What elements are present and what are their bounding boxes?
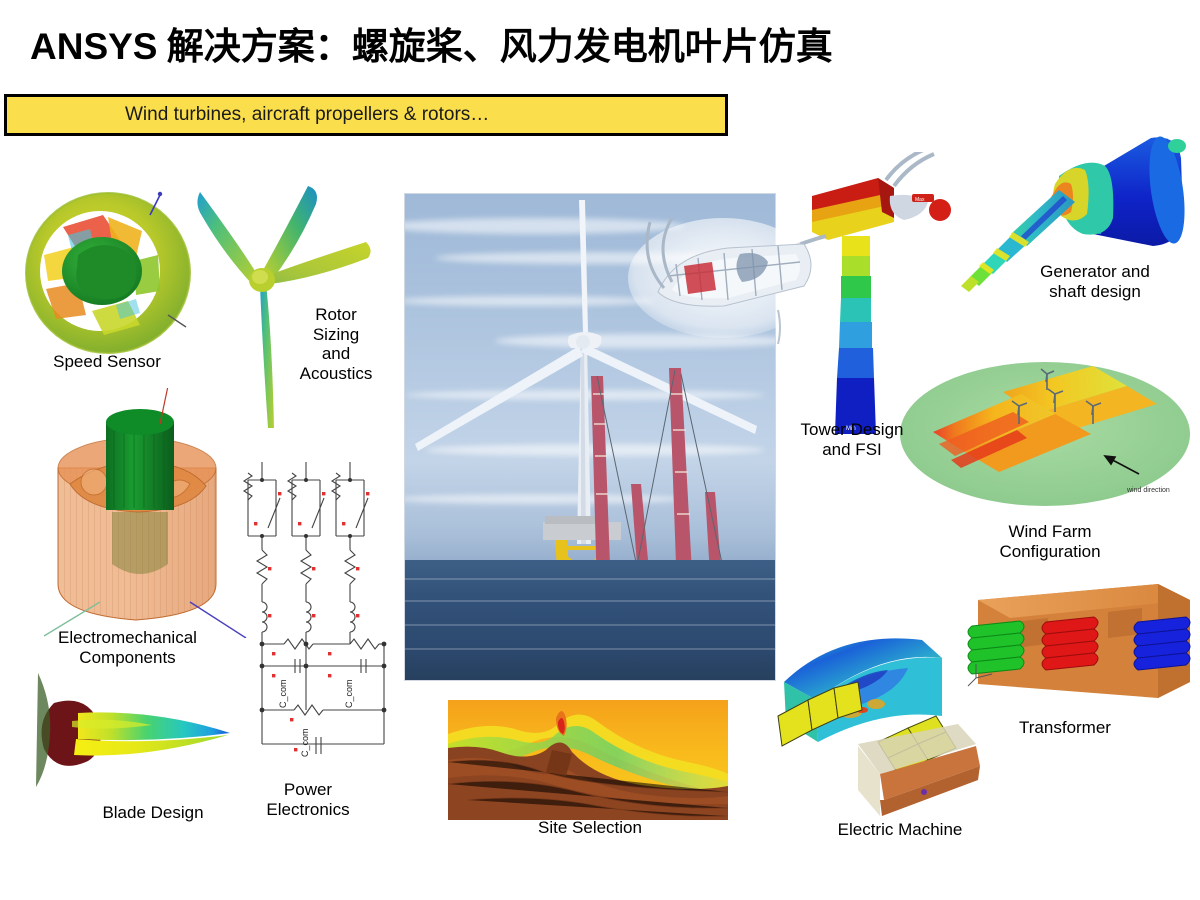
wind-direction-label: wind direction xyxy=(1126,487,1170,494)
circuit-schematic: C_com C_com C_com xyxy=(232,462,392,757)
cap-label-2: C_com xyxy=(344,679,354,708)
figure-speed-sensor xyxy=(8,185,208,365)
figure-site-selection xyxy=(448,700,728,820)
wind-farm-graphic: wind direction xyxy=(895,352,1195,524)
caption-transformer: Transformer xyxy=(1000,718,1130,738)
caption-electric-machine: Electric Machine xyxy=(800,820,1000,840)
electromechanical-graphic xyxy=(40,388,250,638)
nacelle-graphic xyxy=(628,218,818,348)
sea-wave xyxy=(405,648,775,650)
subtitle-banner-text: Wind turbines, aircraft propellers & rot… xyxy=(125,104,489,126)
slide-canvas: ANSYS 解决方案：螺旋桨、风力发电机叶片仿真 Wind turbines, … xyxy=(0,0,1200,900)
caption-site-selection: Site Selection xyxy=(500,818,680,838)
caption-electromechanical: Electromechanical Components xyxy=(20,628,235,667)
caption-blade-design: Blade Design xyxy=(78,803,228,823)
figure-power-electronics: C_com C_com C_com xyxy=(232,462,392,762)
page-title: ANSYS 解决方案：螺旋桨、风力发电机叶片仿真 xyxy=(30,16,833,70)
caption-tower-design: Tower Design and FSI xyxy=(772,420,932,459)
cap-label-3: C_com xyxy=(300,728,310,757)
caption-speed-sensor: Speed Sensor xyxy=(12,352,202,372)
caption-power-electronics: Power Electronics xyxy=(248,780,368,819)
figure-wind-farm: wind direction xyxy=(895,352,1195,524)
sea-wave xyxy=(405,578,775,580)
electric-machine-graphic xyxy=(772,604,1002,819)
cap-label-1: C_com xyxy=(278,679,288,708)
figure-blade-design xyxy=(16,655,256,800)
sea-wave xyxy=(405,600,775,602)
subtitle-banner: Wind turbines, aircraft propellers & rot… xyxy=(4,94,728,136)
figure-nacelle-cutaway xyxy=(628,218,818,348)
caption-rotor-sizing: Rotor Sizing and Acoustics xyxy=(286,305,386,384)
site-selection-graphic xyxy=(448,700,728,820)
caption-wind-farm: Wind Farm Configuration xyxy=(980,522,1120,561)
title-brand: ANSYS xyxy=(30,26,157,67)
speed-sensor-graphic xyxy=(8,185,208,365)
title-subject: 解决方案：螺旋桨、风力发电机叶片仿真 xyxy=(157,27,832,68)
blade-design-graphic xyxy=(16,655,256,800)
figure-electromechanical xyxy=(40,388,250,638)
sea-wave xyxy=(405,624,775,626)
figure-electric-machine xyxy=(772,604,1002,819)
caption-generator-shaft: Generator and shaft design xyxy=(1015,262,1175,301)
tower-max-label: Max xyxy=(915,197,925,203)
